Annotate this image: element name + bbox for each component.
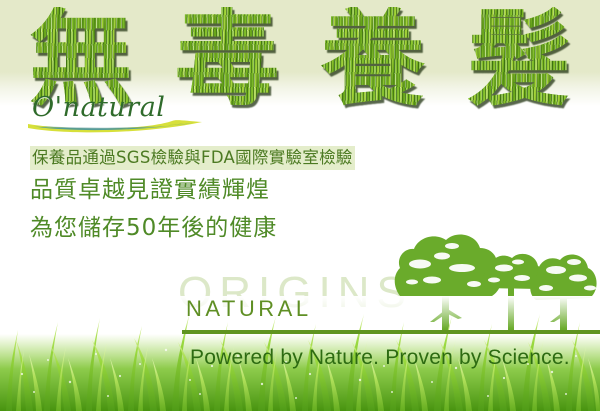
headline-char-2: 毒 <box>175 7 279 111</box>
natural-label: NATURAL <box>186 296 312 322</box>
brand-logo: O'natural <box>32 92 165 123</box>
copy-line-2: 品質卓越見證實績輝煌 <box>30 174 355 207</box>
copy-block: 保養品通過SGS檢驗與FDA國際實驗室檢驗 品質卓越見證實績輝煌 為您儲存50年… <box>30 146 355 245</box>
headline-char-4: 髮 <box>467 7 571 111</box>
tagline: Powered by Nature. Proven by Science. <box>190 346 570 370</box>
promo-banner: ORIGINS <box>0 0 600 411</box>
horizontal-rule-divider <box>182 330 600 334</box>
brand-logo-text: O'natural <box>32 92 165 123</box>
headline-char-3: 養 <box>321 7 425 111</box>
copy-line-1: 保養品通過SGS檢驗與FDA國際實驗室檢驗 <box>30 146 355 170</box>
copy-line-3: 為您儲存50年後的健康 <box>30 212 355 245</box>
